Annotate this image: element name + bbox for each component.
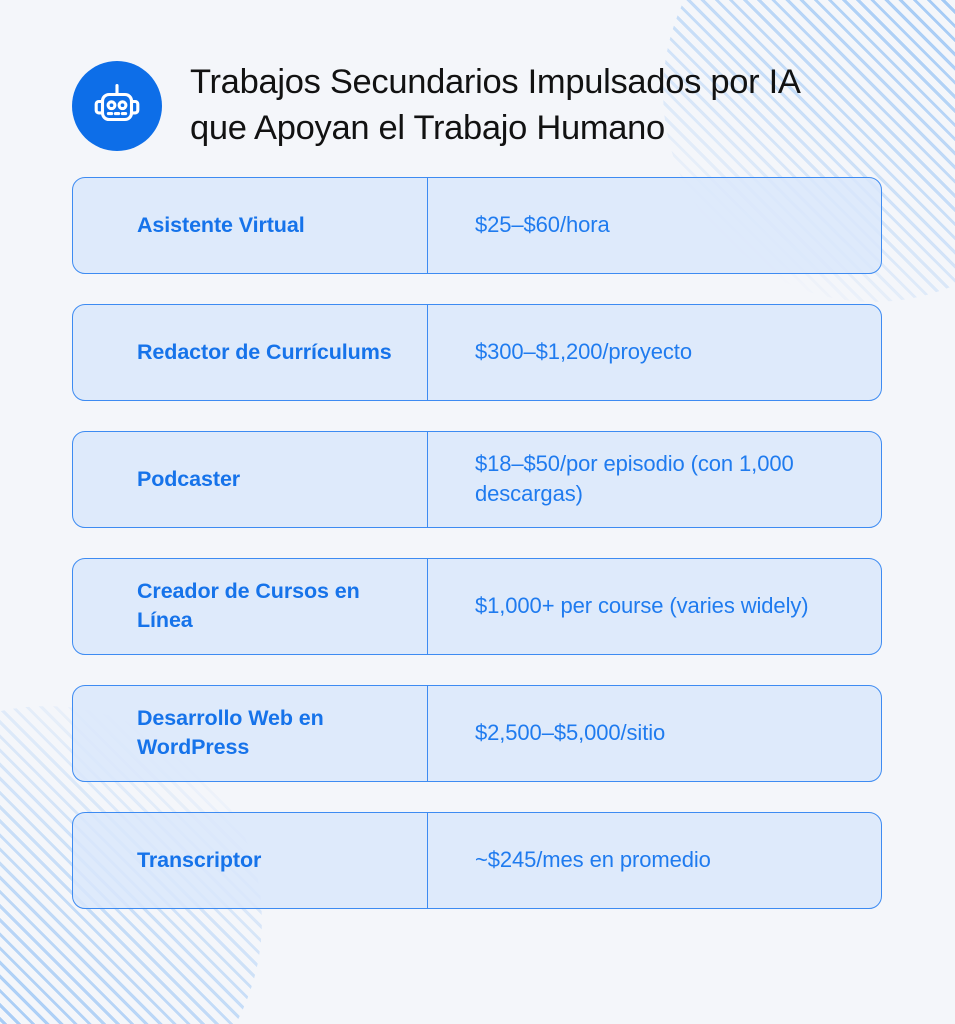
job-title-text: Transcriptor (137, 846, 261, 875)
job-rate-cell: ~$245/mes en promedio (428, 813, 881, 908)
table-row: Creador de Cursos en Línea $1,000+ per c… (72, 558, 882, 655)
job-rate-cell: $300–$1,200/proyecto (428, 305, 881, 400)
robot-icon (72, 61, 162, 151)
job-title-text: Creador de Cursos en Línea (137, 577, 409, 635)
jobs-table: Asistente Virtual $25–$60/hora Redactor … (0, 177, 955, 909)
job-rate-text: $25–$60/hora (475, 210, 610, 240)
job-rate-cell: $18–$50/por episodio (con 1,000 descarga… (428, 432, 881, 527)
job-rate-text: $1,000+ per course (varies widely) (475, 591, 809, 621)
job-title-cell: Podcaster (73, 432, 428, 527)
job-rate-cell: $1,000+ per course (varies widely) (428, 559, 881, 654)
table-row: Redactor de Currículums $300–$1,200/proy… (72, 304, 882, 401)
job-rate-text: $2,500–$5,000/sitio (475, 718, 665, 748)
job-title-cell: Redactor de Currículums (73, 305, 428, 400)
header: Trabajos Secundarios Impulsados por IA q… (0, 0, 955, 152)
job-rate-cell: $25–$60/hora (428, 178, 881, 273)
job-title-text: Asistente Virtual (137, 211, 305, 240)
table-row: Desarrollo Web en WordPress $2,500–$5,00… (72, 685, 882, 782)
table-row: Transcriptor ~$245/mes en promedio (72, 812, 882, 909)
job-rate-text: ~$245/mes en promedio (475, 845, 711, 875)
job-title-text: Desarrollo Web en WordPress (137, 704, 409, 762)
job-rate-text: $18–$50/por episodio (con 1,000 descarga… (475, 449, 863, 509)
job-title-text: Redactor de Currículums (137, 338, 392, 367)
job-title-cell: Asistente Virtual (73, 178, 428, 273)
job-rate-text: $300–$1,200/proyecto (475, 337, 692, 367)
job-rate-cell: $2,500–$5,000/sitio (428, 686, 881, 781)
job-title-cell: Creador de Cursos en Línea (73, 559, 428, 654)
page-title: Trabajos Secundarios Impulsados por IA q… (190, 58, 850, 152)
table-row: Asistente Virtual $25–$60/hora (72, 177, 882, 274)
infographic-page: Trabajos Secundarios Impulsados por IA q… (0, 0, 955, 909)
job-title-cell: Desarrollo Web en WordPress (73, 686, 428, 781)
table-row: Podcaster $18–$50/por episodio (con 1,00… (72, 431, 882, 528)
job-title-cell: Transcriptor (73, 813, 428, 908)
job-title-text: Podcaster (137, 465, 240, 494)
